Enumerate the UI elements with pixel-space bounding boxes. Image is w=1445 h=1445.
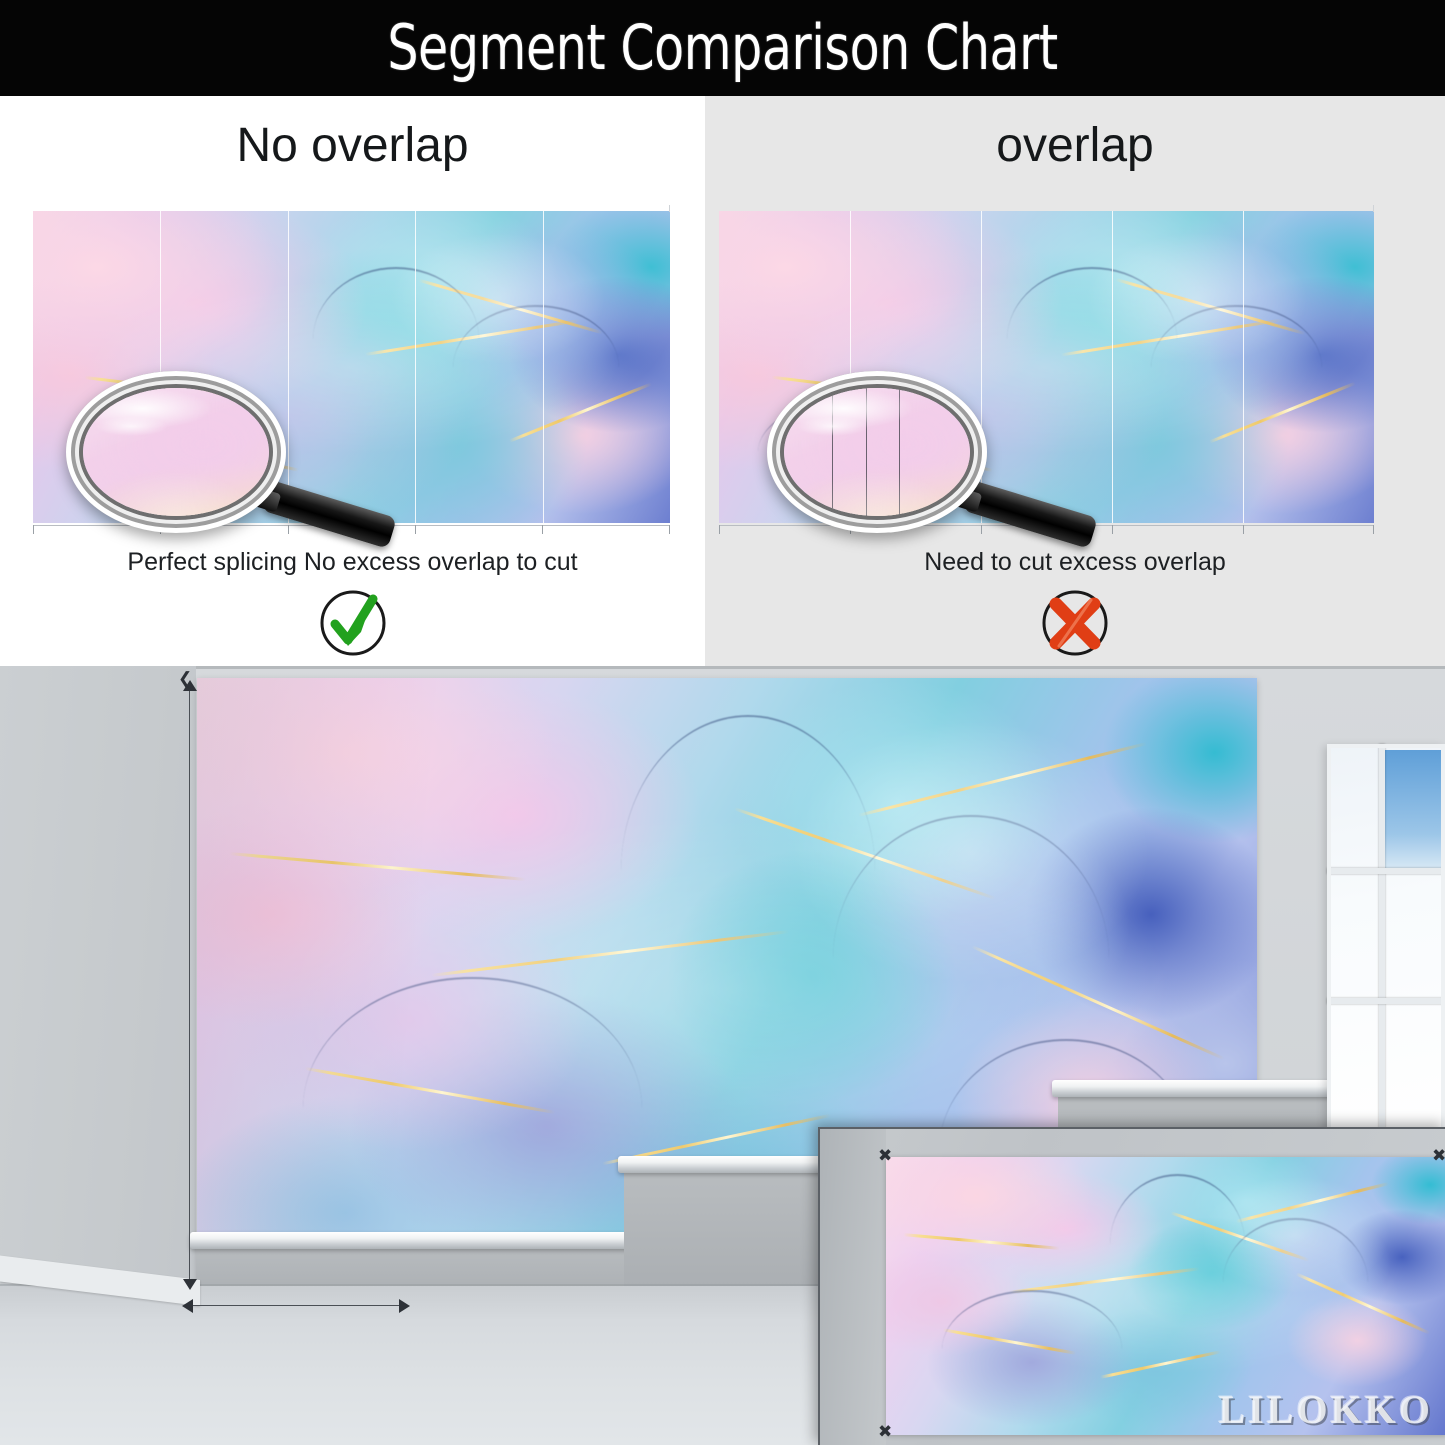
- overlap-seam: [832, 388, 833, 516]
- segment-seam: [415, 211, 416, 523]
- inset-scene: ✖ ✖ ✖ LILOKKO: [818, 1127, 1445, 1445]
- segment-seam: [1243, 211, 1244, 523]
- watermark: LILOKKO: [1219, 1386, 1433, 1433]
- corner-crop-mark: ✖: [1432, 1147, 1445, 1164]
- panel-overlap-heading: overlap: [705, 118, 1445, 173]
- room-scene: ❮ ✖: [0, 666, 1445, 1445]
- panel-no-overlap: No overlap: [0, 96, 705, 666]
- panel-no-overlap-caption: Perfect splicing No excess overlap to cu…: [0, 548, 705, 577]
- width-dimension-arrow: [182, 1298, 412, 1314]
- cross-mark-icon: [1037, 584, 1113, 660]
- screenshot-root: Segment Comparison Chart No overlap: [0, 0, 1445, 1445]
- overlap-seam: [866, 388, 867, 516]
- segment-seam: [1112, 211, 1113, 523]
- title-bar: Segment Comparison Chart: [0, 0, 1445, 96]
- panel-no-overlap-heading: No overlap: [0, 118, 705, 173]
- page-title: Segment Comparison Chart: [87, 0, 1359, 96]
- magnifier-no-overlap: [66, 371, 286, 533]
- left-wall: [0, 666, 200, 1306]
- window-frame: [1327, 744, 1445, 1134]
- magnifier-lens: [767, 371, 987, 533]
- corner-crop-mark: ✖: [878, 1423, 892, 1440]
- magnifier-lens: [66, 371, 286, 533]
- corner-crop-mark: ✖: [878, 1147, 892, 1164]
- stair-step-nosing: [190, 1232, 632, 1249]
- segment-seam: [288, 211, 289, 523]
- panel-overlap-caption: Need to cut excess overlap: [705, 548, 1445, 577]
- inset-left-wall: [820, 1129, 886, 1445]
- window-with-sky: [1327, 744, 1445, 1134]
- magnifier-overlap: [767, 371, 987, 533]
- check-mark-icon: [315, 584, 391, 660]
- comparison-section: No overlap: [0, 96, 1445, 666]
- segment-seam: [543, 211, 544, 523]
- overlap-seam: [899, 388, 900, 516]
- corner-crop-mark: ❮: [178, 670, 192, 687]
- panel-overlap: overlap: [705, 96, 1445, 666]
- stair-step-nosing: [1052, 1080, 1334, 1097]
- height-dimension-arrow: [182, 680, 198, 1290]
- ceiling-line: [196, 666, 1445, 669]
